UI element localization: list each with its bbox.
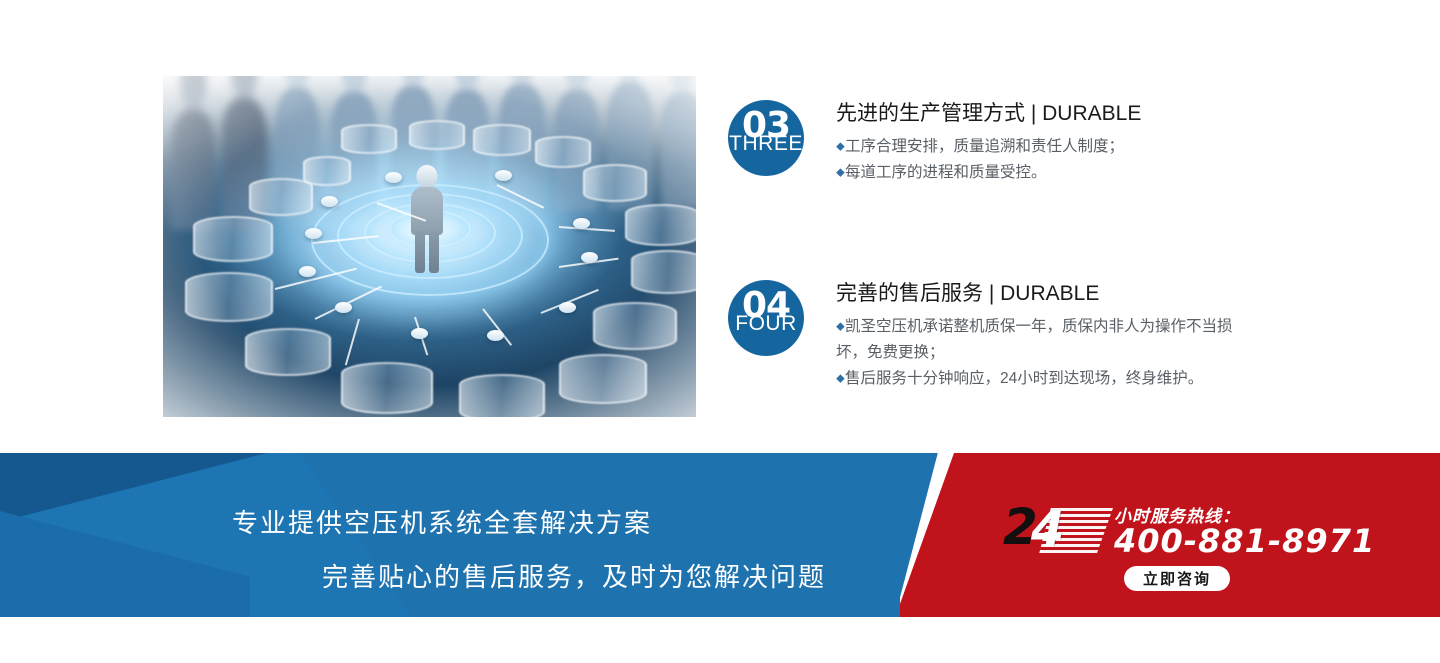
consult-now-button[interactable]: 立即咨询 bbox=[1124, 566, 1230, 591]
feature-text-04: 完善的售后服务 | DURABLE 凯圣空压机承诺整机质保一年，质保内非人为操作… bbox=[836, 280, 1244, 392]
feature-bullet-text: 售后服务十分钟响应，24小时到达现场，终身维护。 bbox=[845, 370, 1203, 387]
feature-title: 完善的售后服务 | DURABLE bbox=[836, 280, 1244, 308]
24-hours-logo: 2 4 bbox=[1003, 502, 1111, 558]
feature-badge-03: 03 THREE bbox=[728, 100, 804, 176]
advantages-section: 03 THREE 先进的生产管理方式 | DURABLE 工序合理安排，质量追溯… bbox=[0, 0, 1440, 453]
hotline-number: 400-881-8971 bbox=[1114, 524, 1375, 558]
diamond-bullet-icon bbox=[836, 374, 844, 382]
feature-bullet-line: 售后服务十分钟响应，24小时到达现场，终身维护。 bbox=[836, 366, 1244, 392]
badge-word: THREE bbox=[728, 133, 804, 155]
diamond-bullet-icon bbox=[836, 168, 844, 176]
feature-badge-04: 04 FOUR bbox=[728, 280, 804, 356]
banner-slogan: 专业提供空压机系统全套解决方案 完善贴心的售后服务，及时为您解决问题 bbox=[0, 453, 900, 617]
hours-digit-4: 4 bbox=[1031, 506, 1064, 554]
feature-bullet-text: 工序合理安排，质量追溯和责任人制度； bbox=[845, 138, 1124, 155]
feature-description: 工序合理安排，质量追溯和责任人制度； 每道工序的进程和质量受控。 bbox=[836, 134, 1141, 186]
badge-word: FOUR bbox=[728, 313, 804, 335]
network-concept-image bbox=[163, 76, 696, 417]
feature-bullet-line: 工序合理安排，质量追溯和责任人制度； bbox=[836, 134, 1141, 160]
feature-bullet-line: 每道工序的进程和质量受控。 bbox=[836, 160, 1141, 186]
diamond-bullet-icon bbox=[836, 142, 844, 150]
image-vignette bbox=[163, 76, 696, 417]
diamond-bullet-icon bbox=[836, 322, 844, 330]
feature-bullet-text: 每道工序的进程和质量受控。 bbox=[845, 164, 1047, 181]
feature-text-03: 先进的生产管理方式 | DURABLE 工序合理安排，质量追溯和责任人制度； 每… bbox=[836, 100, 1141, 186]
feature-bullet-text: 凯圣空压机承诺整机质保一年，质保内非人为操作不当损坏，免费更换； bbox=[836, 318, 1233, 361]
slogan-line-1: 专业提供空压机系统全套解决方案 bbox=[232, 503, 652, 540]
feature-description: 凯圣空压机承诺整机质保一年，质保内非人为操作不当损坏，免费更换； 售后服务十分钟… bbox=[836, 314, 1244, 392]
feature-bullet-line: 凯圣空压机承诺整机质保一年，质保内非人为操作不当损坏，免费更换； bbox=[836, 314, 1244, 366]
slogan-line-2: 完善贴心的售后服务，及时为您解决问题 bbox=[322, 557, 826, 594]
feature-title: 先进的生产管理方式 | DURABLE bbox=[836, 100, 1141, 128]
